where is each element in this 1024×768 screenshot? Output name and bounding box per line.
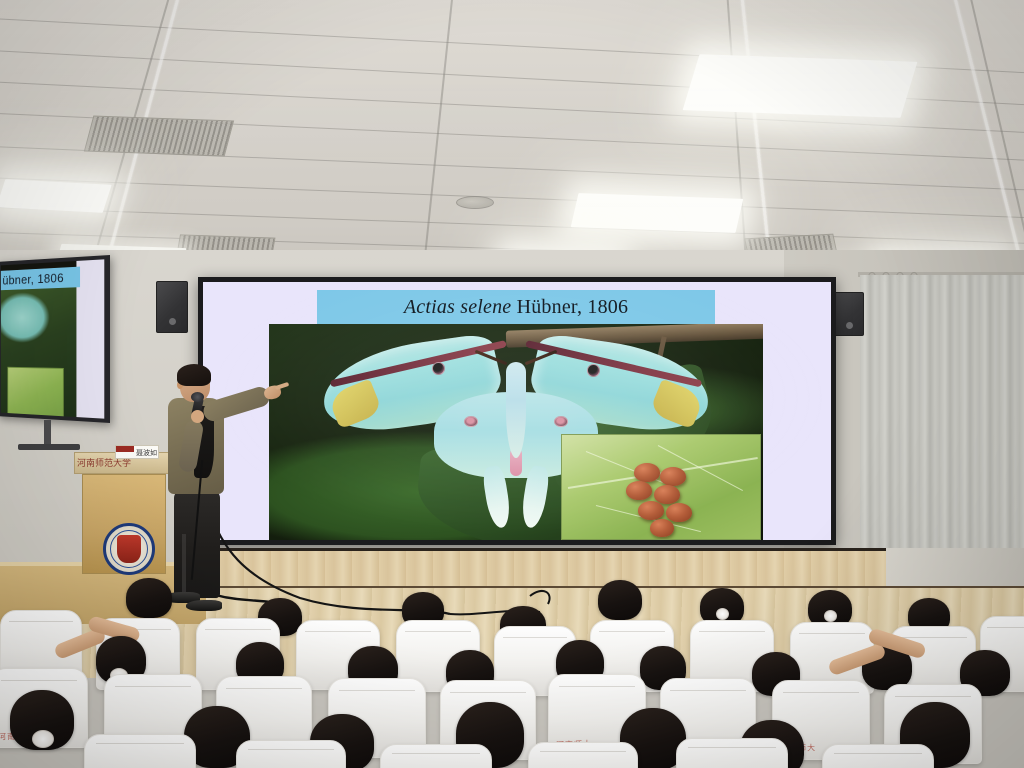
audience-chair <box>380 744 492 768</box>
wall-speaker-left <box>156 281 188 333</box>
aux-slide-inset-photo <box>7 367 63 418</box>
aux-slide-photo <box>1 287 80 421</box>
speaker-name: 聂波如 <box>136 448 157 458</box>
presentation-slide: Actias selene Hübner, 1806 <box>203 282 831 540</box>
air-vent-left <box>84 116 234 157</box>
slide-title-species: Actias selene <box>404 296 512 318</box>
aux-slide-title: übner, 1806 <box>1 267 80 291</box>
moth-egg <box>634 463 660 482</box>
projection-screen[interactable]: Actias selene Hübner, 1806 <box>198 277 836 545</box>
audience-chair <box>236 740 346 768</box>
eyespot <box>554 416 568 427</box>
lectern[interactable]: 河南师范大学 聂波如 <box>78 452 170 574</box>
microphone-capsule <box>191 392 204 402</box>
student-arms-raised <box>828 636 924 670</box>
audience-head <box>126 578 172 618</box>
auxiliary-display[interactable]: übner, 1806 <box>0 255 110 423</box>
slide-title: Actias selene Hübner, 1806 <box>317 290 715 324</box>
audience-chair <box>676 738 788 768</box>
eyespot <box>464 416 478 427</box>
slide-title-author: Hübner, 1806 <box>511 296 628 318</box>
university-crest-icon <box>103 523 155 575</box>
moth-eggs-inset-photo <box>561 434 761 540</box>
speaker-nameplate: 聂波如 <box>115 445 159 459</box>
audience-chair: 河南师大 <box>84 734 196 768</box>
moth-egg <box>666 503 692 522</box>
hair-tie <box>716 608 729 620</box>
audience-chair <box>822 744 934 768</box>
moth-egg <box>654 485 680 504</box>
presenter-hair <box>177 364 211 386</box>
moth-egg <box>650 519 674 537</box>
ceiling-light-2 <box>571 193 744 233</box>
presenter-mic-hand <box>191 410 204 423</box>
lecture-hall-scene: übner, 1806 <box>0 0 1024 768</box>
hair-tie <box>32 730 54 748</box>
hair-tie <box>824 610 837 622</box>
audience-seating: 河南师大 河南师大 河南师大 河南师大 <box>0 574 1024 768</box>
smoke-detector-icon <box>456 196 494 209</box>
eyespot <box>587 364 600 377</box>
moth-egg <box>638 501 664 520</box>
eyespot <box>432 362 445 375</box>
audience-chair <box>528 742 638 768</box>
moth-egg <box>660 467 686 486</box>
moth-body <box>506 362 526 458</box>
aux-display-base <box>18 444 80 450</box>
audience-head <box>598 580 642 620</box>
aux-slide-blank-edge <box>76 259 104 418</box>
lectern-body <box>82 474 166 574</box>
wall-speaker-right <box>834 292 864 336</box>
presenter-pointing-arm <box>201 385 272 424</box>
lectern-top: 河南师范大学 聂波如 <box>74 452 174 474</box>
window-curtain[interactable] <box>860 275 1024 570</box>
ceiling-light-3 <box>0 179 112 213</box>
ceiling-light-1 <box>683 54 918 118</box>
moth-egg <box>626 481 652 500</box>
